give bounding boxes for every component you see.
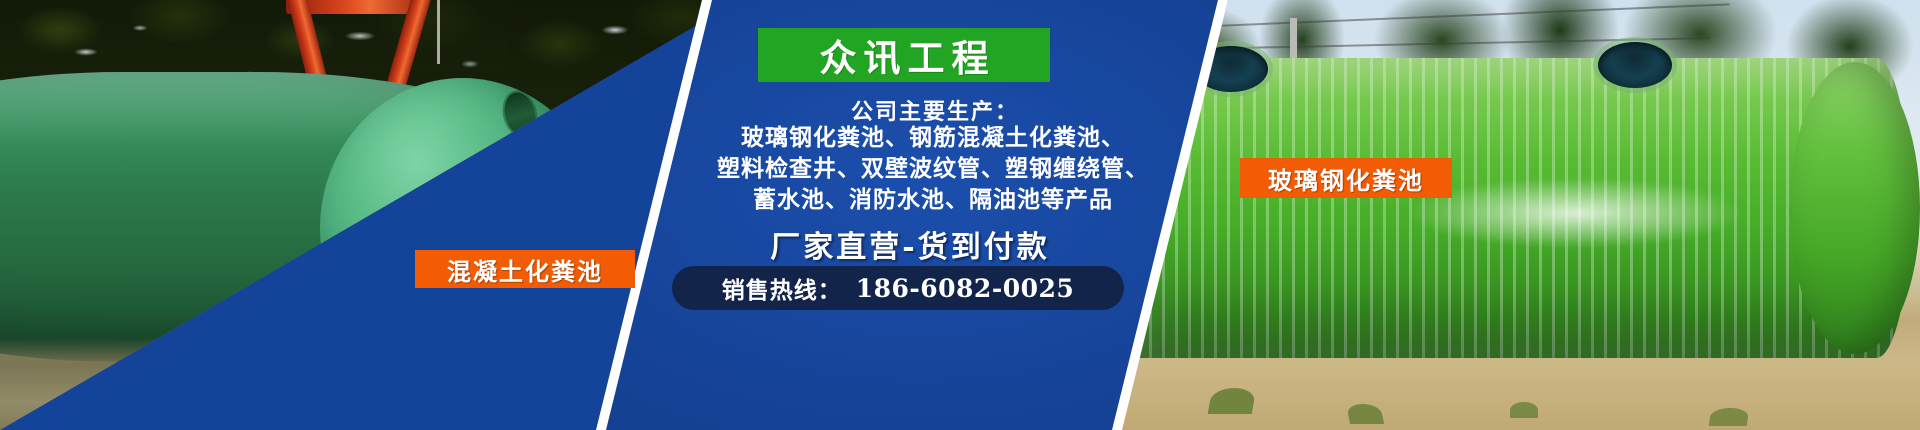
sales-hotline-label: 销售热线： <box>722 271 842 305</box>
product-list-line-1: 玻璃钢化粪池、钢筋混凝土化粪池、 <box>668 122 1198 153</box>
product-list-line-3: 蓄水池、消防水池、隔油池等产品 <box>668 184 1198 215</box>
left-photo-caption-tag: 混凝土化粪池 <box>415 250 635 288</box>
frp-tank-highlight <box>1410 178 1740 248</box>
right-product-photo <box>1090 0 1920 430</box>
concrete-tank-endcap <box>320 78 605 378</box>
ground-weed <box>1510 402 1538 418</box>
product-list-line-2: 塑料检查井、双壁波纹管、塑钢缠绕管、 <box>668 153 1198 184</box>
ground-weed <box>1709 408 1750 426</box>
right-photo-caption-tag: 玻璃钢化粪池 <box>1240 158 1452 198</box>
sales-hotline-pill[interactable]: 销售热线： 186-6082-0025 <box>672 266 1124 310</box>
lifting-rope <box>437 0 440 64</box>
frp-tank-manhole <box>1598 42 1672 88</box>
sales-slogan: 厂家直营-货到付款 <box>660 222 1160 266</box>
company-title: 众讯工程 <box>813 28 996 82</box>
sales-hotline-number[interactable]: 186-6082-0025 <box>856 274 1075 303</box>
promo-banner: 众讯工程 公司主要生产： 玻璃钢化粪池、钢筋混凝土化粪池、 塑料检查井、双壁波纹… <box>0 0 1920 430</box>
frp-tank-endcap <box>1790 62 1920 354</box>
product-list: 玻璃钢化粪池、钢筋混凝土化粪池、 塑料检查井、双壁波纹管、塑钢缠绕管、 蓄水池、… <box>668 122 1198 215</box>
company-title-ribbon: 众讯工程 <box>758 28 1050 82</box>
